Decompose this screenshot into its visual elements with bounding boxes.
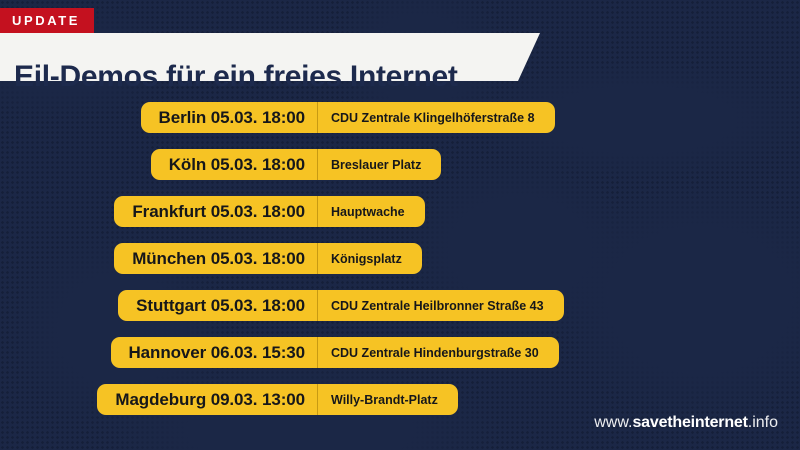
demo-pill[interactable]: Frankfurt 05.03. 18:00Hauptwache <box>114 196 424 227</box>
demo-row: Köln 05.03. 18:00Breslauer Platz <box>0 147 800 194</box>
demo-list: Berlin 05.03. 18:00CDU Zentrale Klingelh… <box>0 100 800 429</box>
demo-location: Hauptwache <box>318 196 425 227</box>
update-badge: UPDATE <box>0 8 94 33</box>
demo-pill[interactable]: München 05.03. 18:00Königsplatz <box>114 243 422 274</box>
demo-location: CDU Zentrale Heilbronner Straße 43 <box>318 290 564 321</box>
demo-location: CDU Zentrale Klingelhöferstraße 8 <box>318 102 555 133</box>
demo-row: München 05.03. 18:00Königsplatz <box>0 241 800 288</box>
site-url-suffix: .info <box>748 414 778 431</box>
demo-location: CDU Zentrale Hindenburgstraße 30 <box>318 337 559 368</box>
demo-city-time: Köln 05.03. 18:00 <box>151 149 318 180</box>
demo-location: Breslauer Platz <box>318 149 441 180</box>
demo-row: Stuttgart 05.03. 18:00CDU Zentrale Heilb… <box>0 288 800 335</box>
demo-row: Berlin 05.03. 18:00CDU Zentrale Klingelh… <box>0 100 800 147</box>
demo-pill[interactable]: Köln 05.03. 18:00Breslauer Platz <box>151 149 442 180</box>
demo-pill[interactable]: Berlin 05.03. 18:00CDU Zentrale Klingelh… <box>141 102 555 133</box>
site-url-prefix: www. <box>594 414 632 431</box>
demo-pill[interactable]: Stuttgart 05.03. 18:00CDU Zentrale Heilb… <box>118 290 563 321</box>
site-url-main: savetheinternet <box>632 414 747 431</box>
demo-location: Willy-Brandt-Platz <box>318 384 458 415</box>
demo-city-time: Berlin 05.03. 18:00 <box>141 102 318 133</box>
demo-row: Frankfurt 05.03. 18:00Hauptwache <box>0 194 800 241</box>
demo-row: Hannover 06.03. 15:30CDU Zentrale Hinden… <box>0 335 800 382</box>
demo-location: Königsplatz <box>318 243 422 274</box>
site-url[interactable]: www.savetheinternet.info <box>594 414 778 432</box>
demo-city-time: Magdeburg 09.03. 13:00 <box>97 384 318 415</box>
demo-city-time: Stuttgart 05.03. 18:00 <box>118 290 318 321</box>
demo-pill[interactable]: Hannover 06.03. 15:30CDU Zentrale Hinden… <box>111 337 559 368</box>
page-title: Eil-Demos für ein freies Internet <box>14 53 458 101</box>
demo-city-time: Frankfurt 05.03. 18:00 <box>114 196 318 227</box>
demo-city-time: Hannover 06.03. 15:30 <box>111 337 319 368</box>
demo-pill[interactable]: Magdeburg 09.03. 13:00Willy-Brandt-Platz <box>97 384 457 415</box>
demo-city-time: München 05.03. 18:00 <box>114 243 318 274</box>
